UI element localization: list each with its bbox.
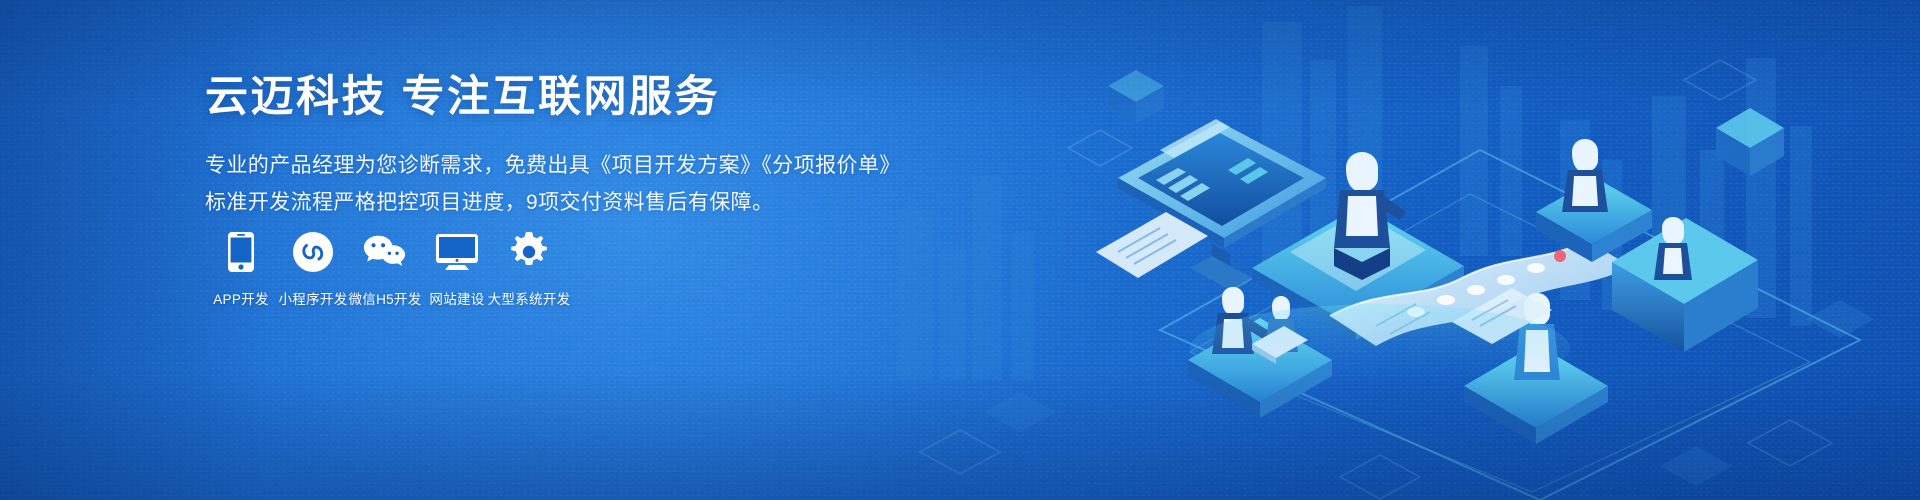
monitor-icon — [435, 230, 479, 274]
feature-label: 小程序开发 — [279, 288, 348, 308]
wechat-icon — [363, 230, 407, 274]
mobile-phone-icon — [219, 230, 263, 274]
feature-label: 微信H5开发 — [348, 288, 421, 308]
feature-label: APP开发 — [213, 288, 269, 308]
page-title: 云迈科技 专注互联网服务 — [205, 72, 905, 123]
mini-program-icon — [291, 230, 335, 274]
isometric-illustration — [860, 0, 1920, 500]
feature-label: 网站建设 — [429, 288, 484, 308]
banner-copy: 云迈科技 专注互联网服务 专业的产品经理为您诊断需求，免费出具《项目开发方案》《… — [205, 72, 905, 221]
feature-label: 大型系统开发 — [488, 288, 571, 308]
service-feature-list: APP开发 小程序开发 微信 — [205, 230, 565, 308]
feature-item-website[interactable]: 网站建设 — [421, 230, 493, 308]
feature-item-wechat-h5[interactable]: 微信H5开发 — [349, 230, 421, 308]
subtitle-line-2: 标准开发流程严格把控项目进度，9项交付资料售后有保障。 — [205, 184, 905, 221]
hero-banner: 云迈科技 专注互联网服务 专业的产品经理为您诊断需求，免费出具《项目开发方案》《… — [0, 0, 1920, 500]
gear-icon — [507, 230, 551, 274]
banner-subtitle: 专业的产品经理为您诊断需求，免费出具《项目开发方案》《分项报价单》 标准开发流程… — [205, 147, 905, 222]
feature-item-large-system[interactable]: 大型系统开发 — [493, 230, 565, 308]
feature-item-miniprogram[interactable]: 小程序开发 — [277, 230, 349, 308]
feature-item-app[interactable]: APP开发 — [205, 230, 277, 308]
subtitle-line-1: 专业的产品经理为您诊断需求，免费出具《项目开发方案》《分项报价单》 — [205, 147, 905, 184]
